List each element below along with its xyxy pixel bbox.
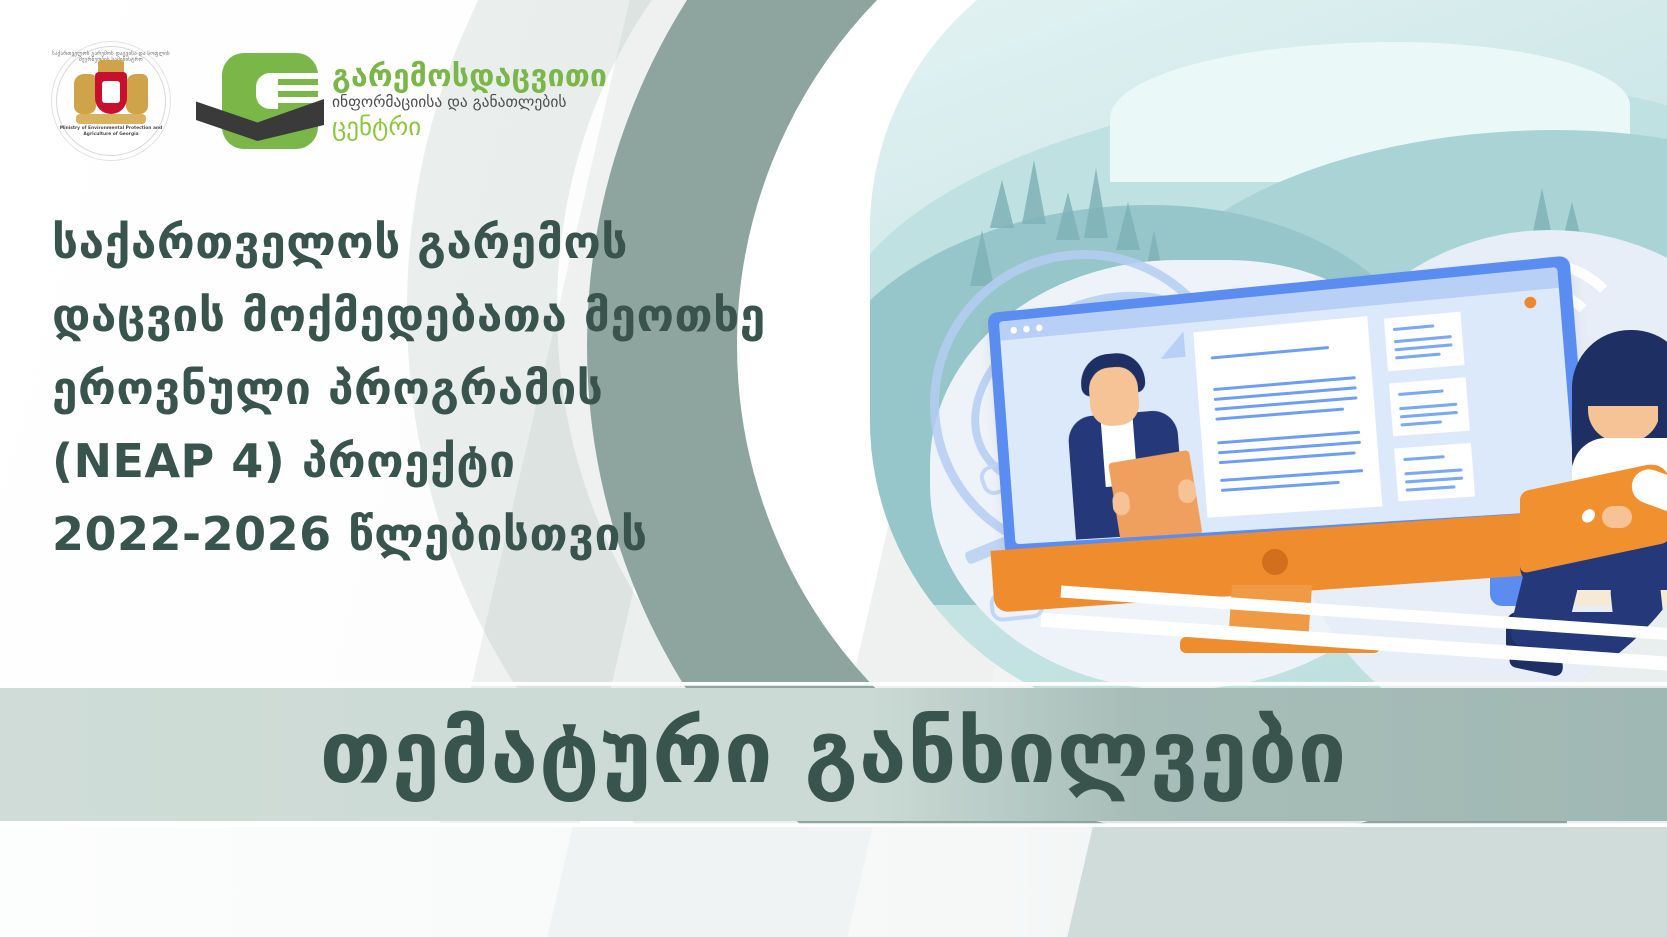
title-line: დაცვის მოქმედებათა მეოთხე <box>52 279 752 352</box>
document-fold <box>1159 331 1186 359</box>
woman-with-laptop <box>1510 330 1667 630</box>
side-card <box>1394 443 1475 501</box>
desktop-monitor <box>980 285 1570 615</box>
banner-text: თემატური განხილვები <box>320 703 1348 803</box>
org-name-line3: ცენტრი <box>332 113 607 140</box>
title-line: ეროვნული პროგრამის <box>52 352 752 425</box>
pine-tree-icon <box>1022 160 1046 224</box>
pine-tree-icon <box>970 230 994 286</box>
slide-canvas: საქართველოს გარემოს დაცვისა და სოფლის მე… <box>0 0 1667 937</box>
banner-bottom-rule <box>0 824 1667 827</box>
side-card <box>1384 312 1465 372</box>
record-dot-icon <box>1524 296 1537 308</box>
pine-tree-icon <box>1116 202 1140 250</box>
open-book-mark-icon <box>222 53 318 149</box>
org-name-line1: გარემოსდაცვითი <box>332 62 607 92</box>
org-logo-text: გარემოსდაცვითი ინფორმაციისა და განათლები… <box>332 62 607 140</box>
emblem-label-en: Ministry of Environmental Protection and… <box>52 126 170 137</box>
banner-top-rule <box>0 682 1667 685</box>
bottom-banner: თემატური განხილვები <box>0 688 1667 821</box>
header-logos: საქართველოს გარემოს დაცვისა და სოფლის მე… <box>52 42 607 160</box>
monitor-knob <box>1261 548 1289 576</box>
pine-tree-icon <box>1056 192 1080 240</box>
pine-tree-icon <box>1084 168 1108 238</box>
side-card <box>1389 377 1470 436</box>
document-page <box>1193 316 1382 517</box>
title-line: (NEAP 4) პროექტი <box>52 425 752 498</box>
georgia-coat-of-arms-icon: საქართველოს გარემოს დაცვისა და სოფლის მე… <box>52 42 170 160</box>
page-title: საქართველოს გარემოს დაცვის მოქმედებათა მ… <box>52 206 752 571</box>
monitor-screen <box>987 255 1591 556</box>
title-line: 2022-2026 წლებისთვის <box>52 498 752 571</box>
below-banner-right <box>1067 827 1667 937</box>
presenter-figure <box>1049 339 1204 535</box>
title-line: საქართველოს გარემოს <box>52 206 752 279</box>
org-logo: გარემოსდაცვითი ინფორმაციისა და განათლები… <box>222 53 607 149</box>
monitor-screen-content <box>999 267 1577 544</box>
pine-tree-icon <box>990 180 1014 228</box>
below-banner-wedge <box>547 827 872 937</box>
org-name-line2: ინფორმაციისა და განათლების <box>332 92 607 113</box>
